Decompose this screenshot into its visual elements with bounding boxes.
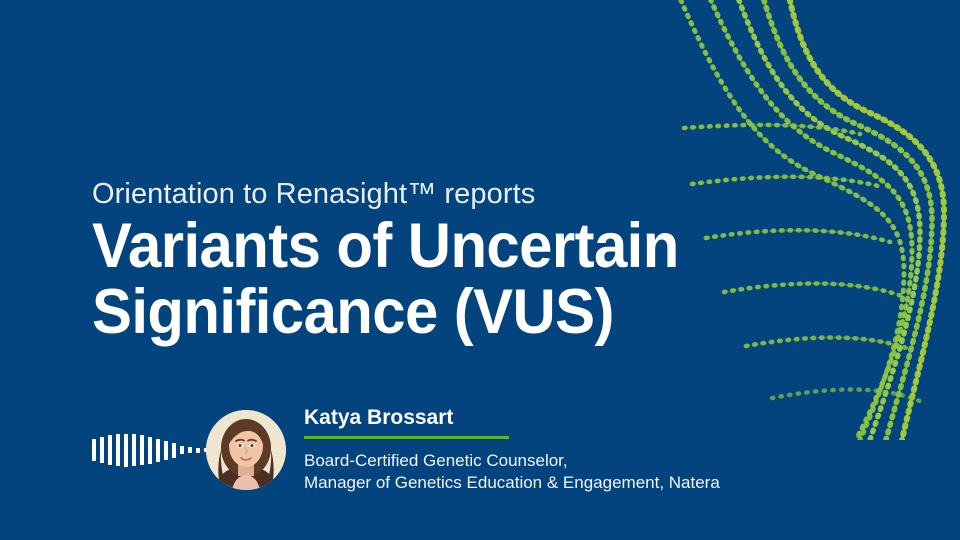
presenter-text: Katya Brossart Board-Certified Genetic C…: [304, 406, 720, 495]
waveform-bar: [196, 448, 200, 453]
waveform-bar: [140, 435, 144, 465]
title-slide: Orientation to Renasight™ reports Varian…: [0, 0, 960, 540]
presenter-role-line-1: Board-Certified Genetic Counselor,: [304, 450, 720, 472]
waveform-bar: [132, 434, 136, 466]
waveform-bar: [124, 434, 128, 467]
waveform-bar: [92, 439, 96, 461]
waveform-bar: [116, 434, 120, 466]
waveform-bar: [180, 446, 184, 454]
presenter-role: Board-Certified Genetic Counselor, Manag…: [304, 450, 720, 495]
slide-eyebrow: Orientation to Renasight™ reports: [92, 178, 792, 210]
presenter-role-line-2: Manager of Genetics Education & Engageme…: [304, 472, 720, 494]
natera-waveform-logo-icon: [92, 428, 188, 472]
waveform-bar: [100, 437, 104, 463]
presenter-name: Katya Brossart: [304, 406, 720, 429]
presenter-block: Katya Brossart Board-Certified Genetic C…: [92, 398, 720, 502]
avatar: [206, 410, 286, 490]
waveform-bar: [108, 435, 112, 465]
waveform-bar: [148, 437, 152, 464]
title-block: Orientation to Renasight™ reports Varian…: [92, 178, 792, 346]
waveform-bar: [172, 443, 176, 458]
headline-line-2: Significance (VUS): [92, 280, 757, 346]
waveform-bar: [188, 447, 192, 453]
waveform-bar: [164, 441, 168, 460]
headline-line-1: Variants of Uncertain: [92, 214, 757, 280]
accent-divider: [304, 436, 509, 439]
page-title: Variants of Uncertain Significance (VUS): [92, 214, 757, 345]
waveform-bar: [156, 439, 160, 462]
